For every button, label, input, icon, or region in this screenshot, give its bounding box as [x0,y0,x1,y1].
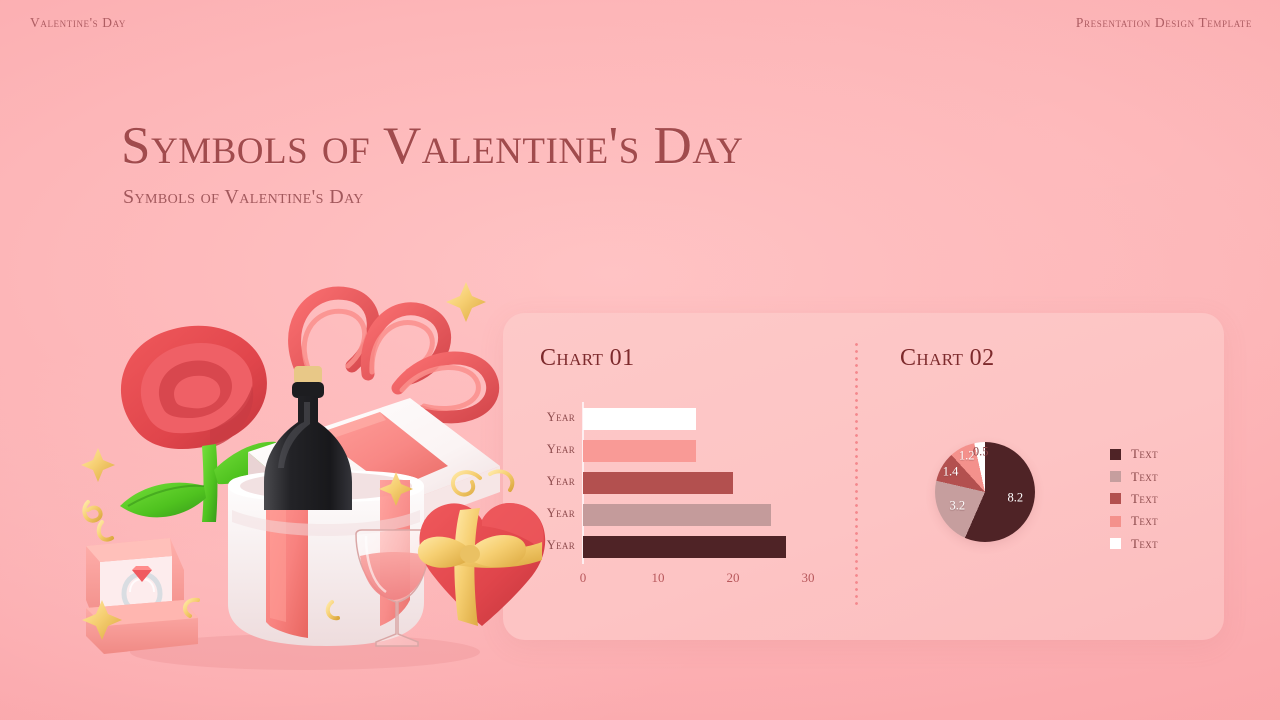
legend-item-label: Text [1131,446,1158,462]
pie-slice-value-label: 8.2 [1008,491,1024,506]
bar-chart-tick-label: 30 [802,570,815,586]
pie-slice-value-label: 3.2 [949,498,965,513]
bar-chart: YearYearYearYearYear [525,400,825,600]
valentines-illustration [80,270,550,670]
legend-item[interactable]: Text [1110,488,1200,510]
bar-series-item [583,472,733,494]
legend-item-label: Text [1131,491,1158,507]
bar-series-item [583,536,786,558]
legend-item[interactable]: Text [1110,465,1200,487]
chart-01-title: Chart 01 [540,345,634,372]
bar-chart-row: Year [525,536,825,558]
legend-swatch-icon [1110,449,1121,460]
header-left-label: Valentine's Day [30,15,126,31]
bar-chart-tick-label: 0 [580,570,587,586]
legend-swatch-icon [1110,516,1121,527]
bar-series-item [583,440,696,462]
page-subtitle: Symbols of Valentine's Day [123,186,364,209]
vertical-dotted-divider [855,341,858,605]
legend-swatch-icon [1110,471,1121,482]
pie-chart-legend: TextTextTextTextText [1110,443,1200,555]
bar-chart-row: Year [525,504,825,526]
chart-02-title: Chart 02 [900,345,994,372]
slide-canvas: Valentine's Day Presentation Design Temp… [0,0,1280,720]
header-right-label: Presentation Design Template [1076,15,1252,31]
bar-chart-tick-label: 10 [652,570,665,586]
legend-item-label: Text [1131,513,1158,529]
pie-slice-value-label: 1.4 [943,464,959,479]
legend-item-label: Text [1131,536,1158,552]
legend-item[interactable]: Text [1110,510,1200,532]
legend-swatch-icon [1110,493,1121,504]
bar-chart-row: Year [525,472,825,494]
pie-slice-value-label: 0.5 [973,445,989,460]
page-title: Symbols of Valentine's Day [121,119,743,175]
legend-swatch-icon [1110,538,1121,549]
bar-chart-row: Year [525,408,825,430]
bar-series-item [583,504,771,526]
heart-box-icon [418,503,545,626]
bar-chart-row: Year [525,440,825,462]
legend-item[interactable]: Text [1110,443,1200,465]
bar-series-item [583,408,696,430]
legend-item-label: Text [1131,469,1158,485]
legend-item[interactable]: Text [1110,533,1200,555]
bar-chart-tick-label: 20 [727,570,740,586]
